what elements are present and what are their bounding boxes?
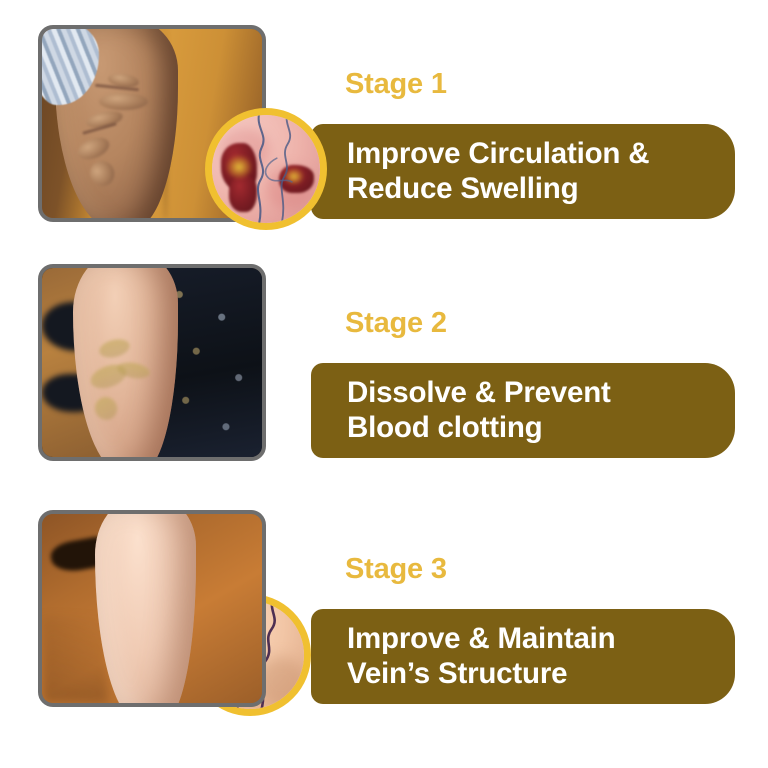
stage-row-1: Stage 1 Improve Circulation & Reduce Swe… — [0, 0, 768, 245]
leg-shape — [95, 514, 196, 703]
stage-3-photo — [42, 514, 262, 703]
floor-shadow — [42, 616, 108, 703]
stage-2-photo — [42, 268, 262, 457]
stage-2-photo-frame — [38, 264, 266, 461]
vein-strands — [212, 115, 320, 223]
vein-lump — [99, 93, 147, 110]
stage-3-label: Stage 3 — [345, 553, 447, 586]
stage-1-banner: Improve Circulation & Reduce Swelling — [311, 124, 735, 219]
stage-1-label: Stage 1 — [345, 68, 447, 101]
stage-1-zoom-circle — [205, 108, 327, 230]
stage-2-banner-text: Dissolve & Prevent Blood clotting — [311, 376, 621, 446]
stage-1-zoom-illustration — [212, 115, 320, 223]
stage-3-banner: Improve & Maintain Vein’s Structure — [311, 609, 735, 704]
stage-2-banner: Dissolve & Prevent Blood clotting — [311, 363, 735, 458]
stage-row-2: Stage 2 Dissolve & Prevent Blood clottin… — [0, 239, 768, 484]
stage-row-3: Stage 3 Improve & Maintain Vein’s Struct… — [0, 485, 768, 730]
varicose-stages-infographic: Stage 1 Improve Circulation & Reduce Swe… — [0, 0, 768, 768]
stage-2-label: Stage 2 — [345, 307, 447, 340]
stage-3-banner-text: Improve & Maintain Vein’s Structure — [311, 622, 626, 692]
stage-1-banner-text: Improve Circulation & Reduce Swelling — [311, 137, 659, 207]
stage-3-photo-frame — [38, 510, 266, 707]
